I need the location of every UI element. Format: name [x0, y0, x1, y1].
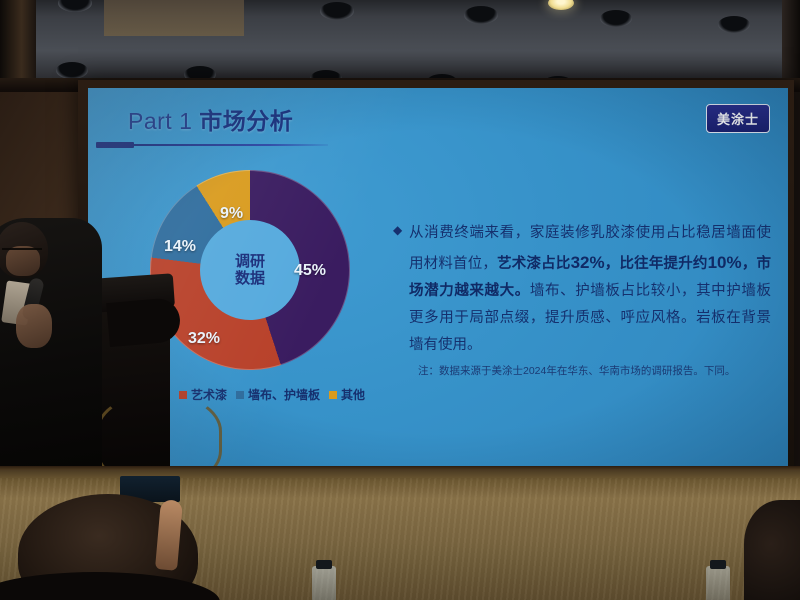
- legend-item-3: 其他: [329, 386, 365, 403]
- legend-label: 其他: [341, 386, 365, 403]
- audience-member-right: [744, 500, 800, 600]
- glasses-icon: [2, 248, 42, 259]
- donut-center-label: 调研 数据: [200, 220, 300, 320]
- body-text-segment: ，: [605, 256, 620, 272]
- downlight-icon: [600, 10, 632, 27]
- body-text-segment: 10%: [708, 253, 742, 272]
- body-text-segment: ，: [742, 256, 757, 272]
- speaker-hand: [16, 304, 52, 348]
- legend-swatch-icon: [329, 391, 337, 399]
- downlight-icon: [464, 6, 498, 24]
- slide-footnote: 注：数据来源于美涂士2024年在华东、华南市场的调研报告。下同。: [418, 364, 778, 380]
- conference-room-photo: Part 1 市场分析 美涂士 调研 数据 45% 32% 14% 9% 乳胶漆…: [0, 0, 800, 600]
- legend-item-2: 墙布、护墙板: [236, 386, 320, 403]
- body-text-segment: 比往年提升约: [619, 256, 707, 272]
- title-rule-thick: [96, 142, 134, 148]
- slide-title-en: Part 1: [128, 108, 192, 134]
- brand-logo-text: 美涂士: [717, 109, 759, 128]
- slice-label-1: 32%: [188, 330, 220, 348]
- slide-title: Part 1 市场分析: [128, 102, 293, 136]
- legend-label: 墙布、护墙板: [248, 386, 320, 403]
- donut-center-line2: 数据: [235, 270, 265, 287]
- body-paragraph: 从消费终端来看，家庭装修乳胶漆使用占比稳居墙面使用材料首位，艺术漆占比32%，比…: [393, 220, 771, 359]
- slice-label-2: 14%: [164, 238, 196, 256]
- water-bottle-cap: [710, 560, 726, 569]
- water-bottle: [312, 566, 336, 600]
- water-bottle-cap: [316, 560, 332, 569]
- downlight-icon: [320, 2, 354, 20]
- body-text-segment: 32%: [571, 253, 605, 272]
- legend-swatch-icon: [236, 391, 244, 399]
- body-text-segment: 艺术漆占比: [497, 256, 570, 272]
- donut-center-line1: 调研: [235, 253, 265, 270]
- slice-label-0: 45%: [294, 262, 326, 280]
- diamond-bullet-icon: ◆: [393, 223, 402, 237]
- slide-title-cn: 市场分析: [199, 108, 293, 134]
- slice-label-3: 9%: [220, 205, 243, 223]
- ceiling-panel: [104, 0, 244, 36]
- body-text-block: ◆ 从消费终端来看，家庭装修乳胶漆使用占比稳居墙面使用材料首位，艺术漆占比32%…: [393, 220, 771, 359]
- downlight-icon: [718, 16, 750, 33]
- brand-logo: 美涂士: [706, 104, 770, 133]
- downlight-icon: [56, 62, 88, 79]
- water-bottle: [706, 566, 730, 600]
- title-rule-thin: [132, 144, 328, 146]
